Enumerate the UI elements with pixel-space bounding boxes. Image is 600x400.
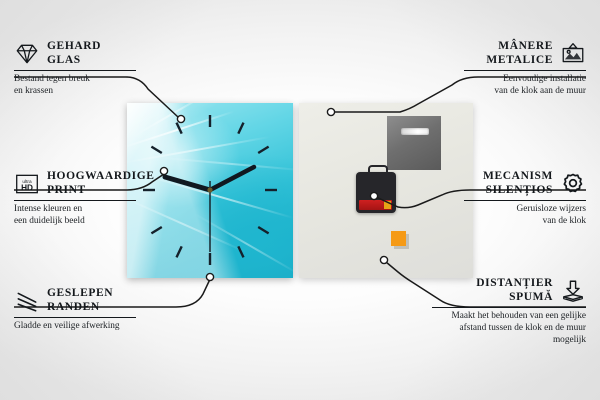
ultra-hd-icon: ultra HD	[14, 171, 40, 197]
feature-title: MECANISM SILENȚIOS	[483, 170, 553, 197]
feature-header: MECANISM SILENȚIOS	[464, 170, 586, 197]
feature-rule	[14, 70, 136, 71]
bevel-lines-icon	[14, 288, 40, 314]
feature-rule	[14, 200, 136, 201]
feature-header: DISTANȚIER SPUMĂ	[432, 277, 586, 304]
feature-geslepen-randen: GESLEPEN RANDEN Gladde en veilige afwerk…	[14, 287, 136, 333]
feature-rule	[432, 307, 586, 308]
feature-title: GEHARD GLAS	[47, 40, 101, 67]
feature-header: ultra HD HOOGWAARDIGE PRINT	[14, 170, 136, 197]
feature-description: Gladde en veilige afwerking	[14, 321, 136, 333]
leader-endpoint	[206, 273, 213, 280]
feature-title: DISTANȚIER SPUMĂ	[432, 277, 553, 304]
leader-endpoint	[160, 167, 167, 174]
leader-endpoint	[380, 256, 387, 263]
leader-endpoint	[370, 192, 377, 199]
feature-gehard-glas: GEHARD GLAS Bestand tegen breuk en krass…	[14, 40, 136, 98]
feature-description: Maakt het behouden van een gelijke afsta…	[432, 311, 586, 346]
infographic-canvas: GEHARD GLAS Bestand tegen breuk en krass…	[0, 0, 600, 400]
down-arrow-pad-icon	[560, 278, 586, 304]
feature-distantier-spuma: DISTANȚIER SPUMĂ Maakt het behouden van …	[432, 277, 586, 346]
feature-description: Geruisloze wijzers van de klok	[464, 204, 586, 227]
feature-header: GEHARD GLAS	[14, 40, 136, 67]
feature-mecanism-silentios: MECANISM SILENȚIOS Geruisloze wijzers va…	[464, 170, 586, 228]
diamond-icon	[14, 41, 40, 67]
feature-rule	[14, 317, 136, 318]
feature-header: MÂNERE METALICE	[464, 40, 586, 67]
feature-header: GESLEPEN RANDEN	[14, 287, 136, 314]
feature-manere-metalice: MÂNERE METALICE Eenvoudige installatie v…	[464, 40, 586, 98]
gear-icon	[560, 171, 586, 197]
feature-title: MÂNERE METALICE	[486, 40, 553, 67]
feature-description: Eenvoudige installatie van de klok aan d…	[464, 74, 586, 97]
feature-title: HOOGWAARDIGE PRINT	[47, 170, 155, 197]
picture-frame-icon	[560, 41, 586, 67]
feature-hoogwaardige-print: ultra HD HOOGWAARDIGE PRINT Intense kleu…	[14, 170, 136, 228]
leader-endpoint	[177, 115, 184, 122]
feature-title: GESLEPEN RANDEN	[47, 287, 113, 314]
feature-description: Bestand tegen breuk en krassen	[14, 74, 136, 97]
feature-rule	[464, 70, 586, 71]
feature-rule	[464, 200, 586, 201]
leader-endpoint	[327, 108, 334, 115]
svg-text:HD: HD	[21, 183, 33, 192]
feature-description: Intense kleuren en een duidelijk beeld	[14, 204, 136, 227]
